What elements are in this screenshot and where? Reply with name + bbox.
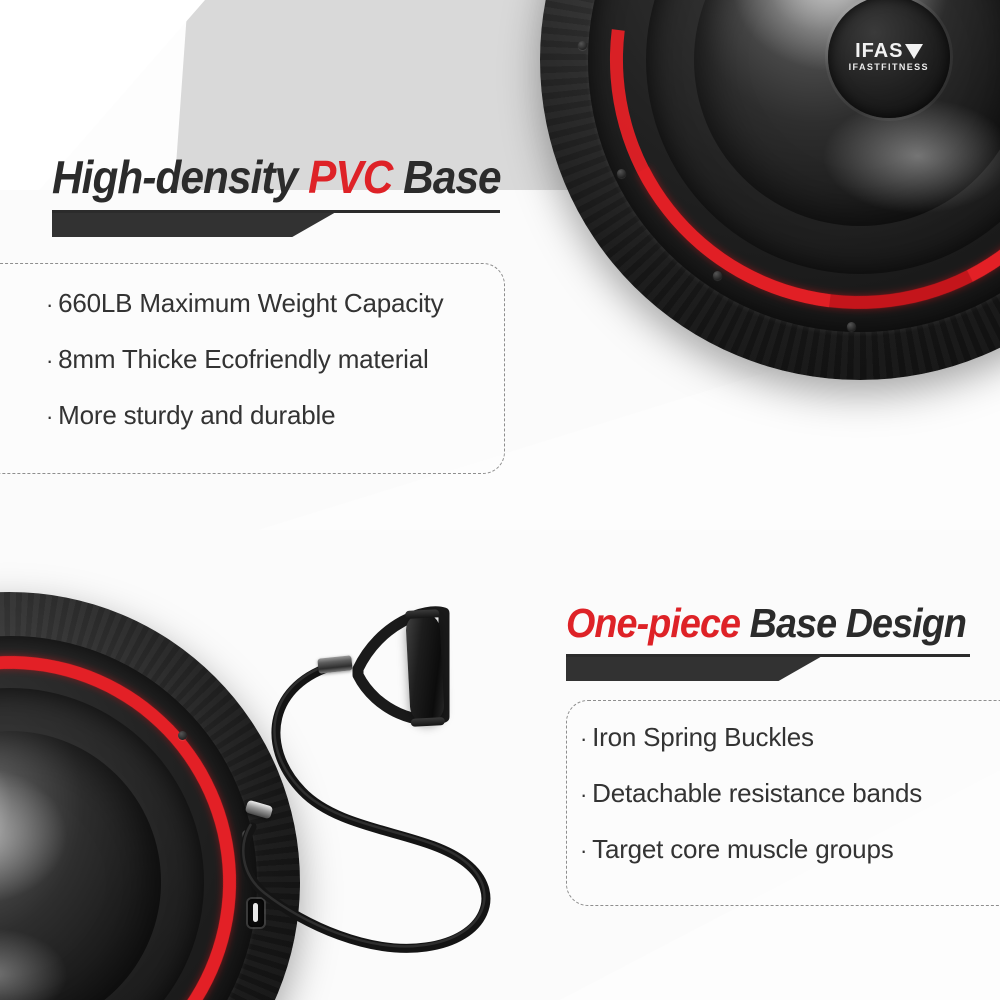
feature-list-high-density: · 660LB Maximum Weight Capacity · 8mm Th… [46, 288, 443, 456]
headline-1-prefix: High-density [52, 151, 308, 203]
brand-triangle-icon [905, 44, 923, 59]
list-item-label: 660LB Maximum Weight Capacity [58, 288, 443, 319]
headline-1-accent: PVC [308, 151, 392, 203]
disc-bolt [713, 271, 722, 280]
headline-2-suffix: Base Design [740, 600, 966, 646]
bullet-marker-icon: · [580, 784, 587, 806]
bullet-marker-icon: · [580, 840, 587, 862]
brand-logo-wordmark: IFAS [855, 41, 922, 61]
list-item-label: Detachable resistance bands [592, 778, 922, 809]
band-handle-grip [405, 612, 445, 724]
bullet-marker-icon: · [46, 294, 53, 316]
heading-divider-2 [566, 654, 970, 686]
bullet-marker-icon: · [46, 350, 53, 372]
list-item-label: Target core muscle groups [592, 834, 893, 865]
balance-trainer-disc-top: IFAS IFASTFITNESS [540, 0, 1000, 380]
feature-list-one-piece: · Iron Spring Buckles · Detachable resis… [580, 722, 922, 890]
headline-2-accent: One-piece [566, 600, 740, 646]
handle-cap-top [405, 609, 439, 619]
divider-bar [566, 657, 821, 681]
divider-rule [566, 654, 970, 657]
heading-divider-1 [52, 210, 500, 242]
brand-logo-subtext: IFASTFITNESS [849, 63, 929, 72]
list-item: · Target core muscle groups [580, 834, 922, 865]
list-item: · Detachable resistance bands [580, 778, 922, 809]
disc-logo-cap: IFAS IFASTFITNESS [828, 0, 950, 118]
page-title-one-piece: One-piece Base Design [566, 600, 966, 647]
bullet-marker-icon: · [46, 406, 53, 428]
disc-bolt [617, 169, 626, 178]
bullet-marker-icon: · [580, 728, 587, 750]
list-item-label: More sturdy and durable [58, 400, 335, 431]
divider-bar [52, 213, 334, 237]
resistance-band [230, 595, 560, 955]
divider-rule [52, 210, 500, 213]
marketing-banner: IFAS IFASTFITNESS [0, 0, 1000, 1000]
list-item: · 660LB Maximum Weight Capacity [46, 288, 443, 319]
list-item-label: 8mm Thicke Ecofriendly material [58, 344, 428, 375]
list-item: · Iron Spring Buckles [580, 722, 922, 753]
resistance-band-cord [230, 595, 560, 955]
brand-logo-text: IFAS [855, 41, 903, 61]
page-title-high-density: High-density PVC Base [52, 150, 501, 204]
list-item-label: Iron Spring Buckles [592, 722, 814, 753]
headline-1-suffix: Base [392, 151, 500, 203]
list-item: · 8mm Thicke Ecofriendly material [46, 344, 443, 375]
list-item: · More sturdy and durable [46, 400, 443, 431]
